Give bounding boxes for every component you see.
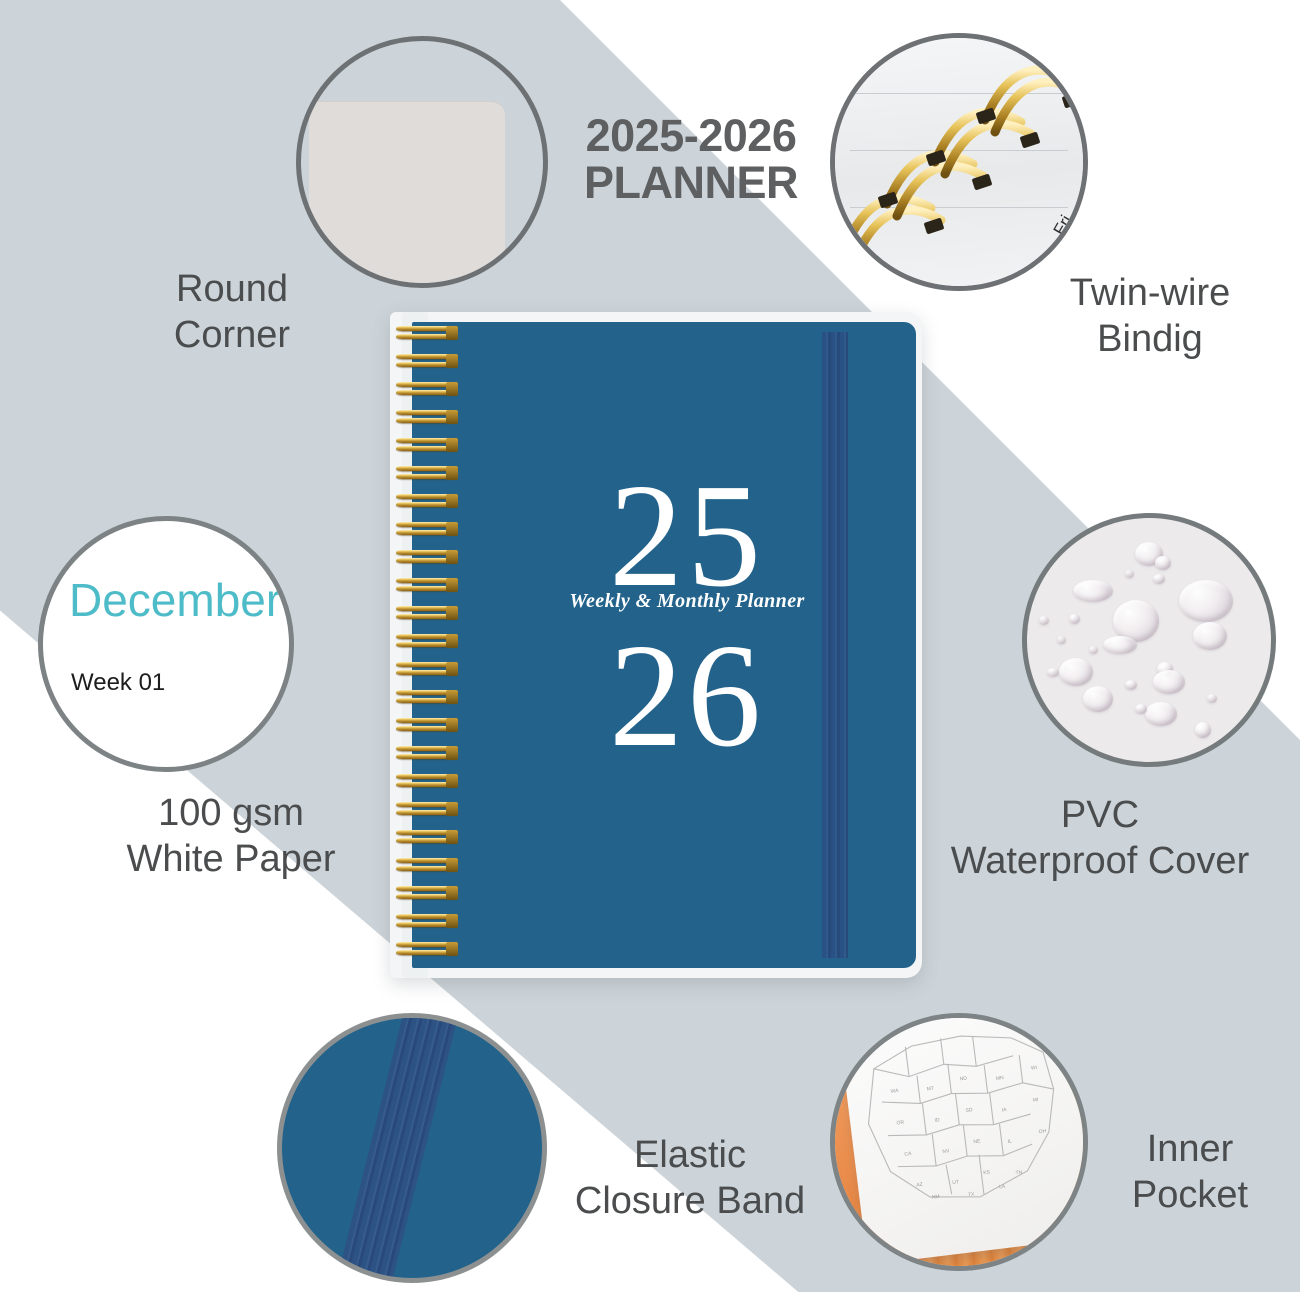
svg-text:IA: IA [1002,1107,1008,1114]
round-corner-page-swatch [309,101,505,288]
water-droplet-icon [1083,686,1113,712]
caption-twin-wire-binding: Twin-wire Bindig [1000,270,1300,363]
planner-twin-wire-coil [390,326,462,966]
svg-text:OR: OR [896,1120,905,1127]
caption-elastic-closure-band: Elastic Closure Band [520,1132,860,1225]
title-year-range: 2025-2026 [556,112,826,159]
cover-year-top: 25 [562,462,812,610]
page-title: 2025-2026 PLANNER [556,112,826,207]
svg-text:TX: TX [968,1191,976,1198]
svg-text:KS: KS [983,1169,991,1176]
caption-pvc-waterproof-cover: PVC Waterproof Cover [900,792,1300,885]
svg-text:TN: TN [1015,1169,1023,1176]
feature-circle-pvc-waterproof-cover [1022,513,1276,767]
water-droplet-icon [1145,702,1177,726]
water-droplet-icon [1125,570,1134,578]
svg-text:SD: SD [965,1107,973,1114]
water-droplet-icon [1193,622,1227,650]
svg-text:MI: MI [1033,1097,1039,1104]
planner-elastic-band [822,332,848,958]
cover-year-bottom: 26 [562,622,812,770]
water-droplet-icon [1089,646,1098,654]
planner-page-month-label: December [69,573,281,627]
water-droplet-icon [1039,616,1049,625]
feature-circle-inner-pocket: VISA WAMTND MNWI [830,1013,1088,1271]
caption-white-paper: 100 gsm White Paper [76,790,386,883]
svg-text:WI: WI [1031,1065,1038,1072]
svg-text:MN: MN [996,1075,1005,1082]
svg-text:NV: NV [942,1148,950,1155]
water-droplet-icon [1195,722,1211,738]
svg-text:IL: IL [1007,1139,1012,1145]
svg-text:UT: UT [952,1179,959,1186]
water-droplet-icon [1103,636,1137,654]
svg-text:AZ: AZ [916,1182,923,1189]
water-droplet-icon [1059,658,1093,686]
feature-circle-elastic-closure-band [277,1013,547,1283]
cover-subtitle: Weekly & Monthly Planner [542,590,832,613]
svg-text:CA: CA [904,1151,912,1158]
caption-inner-pocket: Inner Pocket [1090,1126,1290,1219]
planner-page-week-label: Week 01 [71,669,165,697]
caption-round-corner: Round Corner [96,266,368,359]
elastic-band-strip [323,1013,467,1283]
title-planner-word: PLANNER [556,159,826,206]
water-droplet-icon [1047,668,1059,677]
us-map-page: WAMTND MNWI ORIDSD IAMI CANVNE ILOH AZUT… [836,1013,1088,1265]
water-droplet-icon [1125,680,1137,690]
water-droplet-icon [1179,580,1233,622]
svg-text:MT: MT [926,1086,934,1093]
water-droplet-icon [1207,694,1217,703]
planner-front-cover: 25 Weekly & Monthly Planner 26 [412,322,916,968]
planner-product-image: 25 Weekly & Monthly Planner 26 [390,312,922,978]
svg-text:NM: NM [932,1194,940,1201]
feature-circle-white-paper: December Week 01 [38,516,294,772]
water-droplet-icon [1153,670,1185,694]
us-map-outline-icon: WAMTND MNWI ORIDSD IAMI CANVNE ILOH AZUT… [836,1013,1088,1265]
water-droplet-icon [1155,556,1171,570]
water-droplet-icon [1135,704,1147,714]
feature-circle-round-corner [296,36,548,288]
water-droplet-icon [1073,580,1113,602]
water-droplet-icon [1069,614,1080,624]
svg-text:OH: OH [1038,1128,1047,1135]
twin-wire-loops-icon [835,38,1088,291]
water-droplet-icon [1057,636,1066,644]
infographic-canvas: 2025-2026 PLANNER Round Corner [0,0,1300,1292]
svg-text:ND: ND [959,1076,967,1083]
svg-text:LA: LA [999,1184,1006,1191]
svg-text:ID: ID [934,1117,940,1124]
wire-photo-coil-group [835,38,1083,286]
svg-text:WA: WA [890,1088,899,1095]
svg-text:NE: NE [973,1138,981,1145]
water-droplet-icon [1153,574,1165,584]
feature-circle-twin-wire-binding: Fri 27 [830,33,1088,291]
